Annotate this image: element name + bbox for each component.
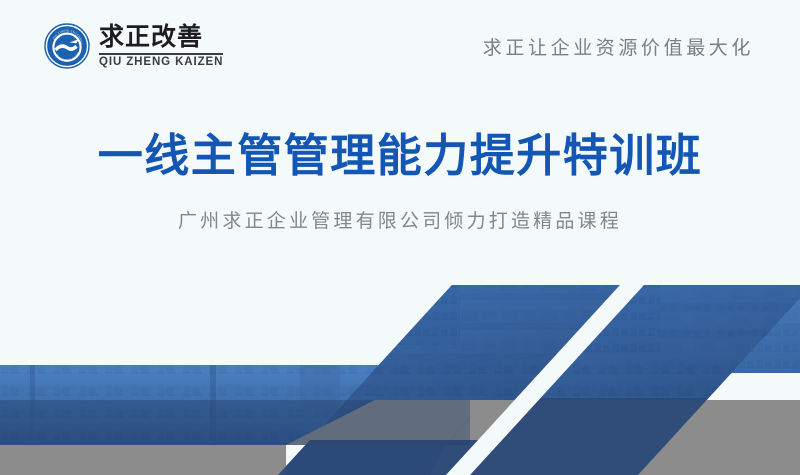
brand-wordmark: 求正改善 QIU ZHENG KAIZEN bbox=[99, 23, 223, 68]
poster-header: QIU ZHENG ENTERPRISE MANAGEMENT CONSULTI… bbox=[0, 0, 800, 92]
brand-divider bbox=[99, 53, 223, 55]
brand-name-en: QIU ZHENG KAIZEN bbox=[99, 56, 223, 69]
qiuzheng-circular-emblem-icon: QIU ZHENG ENTERPRISE MANAGEMENT CONSULTI… bbox=[44, 23, 90, 69]
brand-logo[interactable]: QIU ZHENG ENTERPRISE MANAGEMENT CONSULTI… bbox=[44, 23, 223, 69]
company-tagline: 求正让企业资源价值最大化 bbox=[483, 33, 754, 60]
title-block: 一线主管管理能力提升特训班 广州求正企业管理有限公司倾力打造精品课程 bbox=[0, 130, 800, 233]
left-band-shadow bbox=[0, 400, 470, 445]
course-sub-title: 广州求正企业管理有限公司倾力打造精品课程 bbox=[0, 206, 800, 233]
poster-canvas: QIU ZHENG ENTERPRISE MANAGEMENT CONSULTI… bbox=[0, 0, 800, 475]
brand-name-cn: 求正改善 bbox=[99, 24, 223, 50]
course-main-title: 一线主管管理能力提升特训班 bbox=[0, 130, 800, 182]
